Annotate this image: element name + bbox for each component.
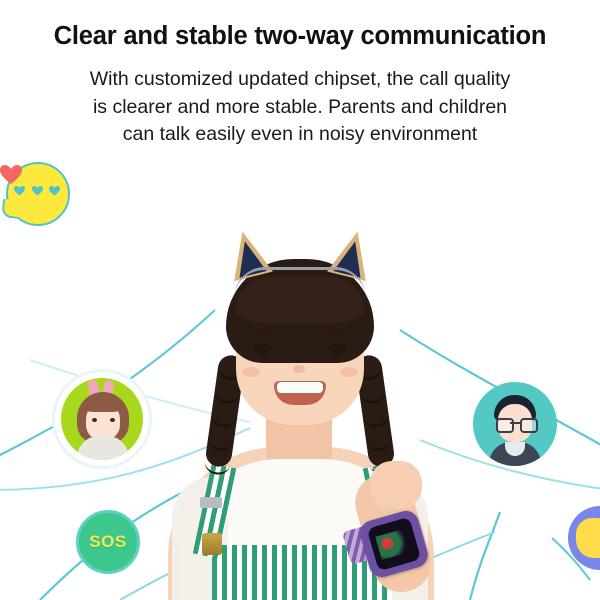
bubble-girl-avatar[interactable]	[52, 369, 152, 469]
eye-right	[328, 343, 346, 354]
sos-button[interactable]: SOS	[76, 510, 140, 574]
strap-clip-left	[202, 533, 222, 555]
description-paragraph: With customized updated chipset, the cal…	[0, 50, 600, 149]
hand	[370, 461, 422, 509]
sos-label: SOS	[89, 532, 126, 552]
glasses-bridge-icon	[510, 422, 520, 424]
glasses-lens-left-icon	[496, 418, 514, 433]
avatar-fringe	[83, 396, 123, 412]
avatar	[61, 378, 143, 460]
child-photo	[150, 215, 450, 600]
headband	[234, 267, 366, 298]
eye-left	[254, 343, 272, 354]
eyebrow-left	[252, 331, 274, 335]
page-title: Clear and stable two-way communication	[0, 0, 600, 50]
description-line-2: is clearer and more stable. Parents and …	[0, 94, 600, 122]
description-line-1: With customized updated chipset, the cal…	[0, 66, 600, 94]
eyebrow-right	[326, 331, 348, 335]
cheek-left	[242, 367, 260, 377]
description-line-3: can talk easily even in noisy environmen…	[0, 121, 600, 149]
glasses-lens-right-icon	[520, 418, 538, 433]
avatar-eye-left	[92, 418, 97, 422]
nose	[293, 365, 305, 373]
edge-bubble-shape	[576, 518, 600, 558]
avatar-eye-right	[110, 418, 115, 422]
cheek-right	[340, 367, 358, 377]
strap-buckle-left	[200, 497, 222, 508]
bubble-man-avatar[interactable]	[473, 382, 557, 466]
watch-screen	[367, 517, 421, 571]
text-block: Clear and stable two-way communication W…	[0, 0, 600, 149]
product-feature-page: Clear and stable two-way communication W…	[0, 0, 600, 600]
hero-photo-stage: SOS	[0, 160, 600, 600]
